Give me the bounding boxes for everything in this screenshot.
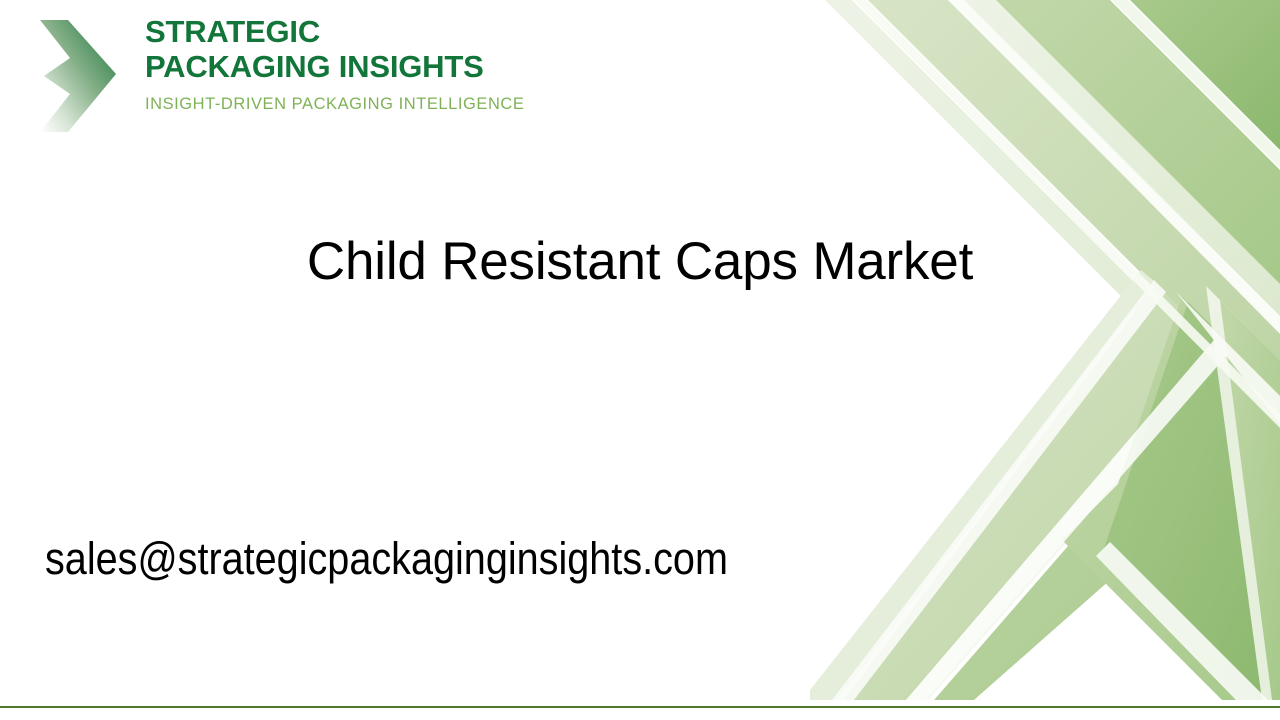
chevron-arrow-icon	[38, 20, 118, 132]
contact-email[interactable]: sales@strategicpackaginginsights.com	[45, 530, 728, 588]
title-slide: STRATEGIC PACKAGING INSIGHTS INSIGHT-DRI…	[0, 0, 1280, 720]
brand-line-1: STRATEGIC	[145, 14, 565, 49]
bottom-divider	[0, 706, 1280, 708]
decorative-diagonal-bands	[810, 0, 1280, 710]
brand-wordmark: STRATEGIC PACKAGING INSIGHTS INSIGHT-DRI…	[145, 14, 565, 114]
page-title: Child Resistant Caps Market	[140, 236, 1140, 288]
brand-tagline: INSIGHT-DRIVEN PACKAGING INTELLIGENCE	[145, 95, 565, 114]
brand-logo: STRATEGIC PACKAGING INSIGHTS INSIGHT-DRI…	[38, 14, 558, 136]
brand-line-2: PACKAGING INSIGHTS	[145, 49, 565, 84]
